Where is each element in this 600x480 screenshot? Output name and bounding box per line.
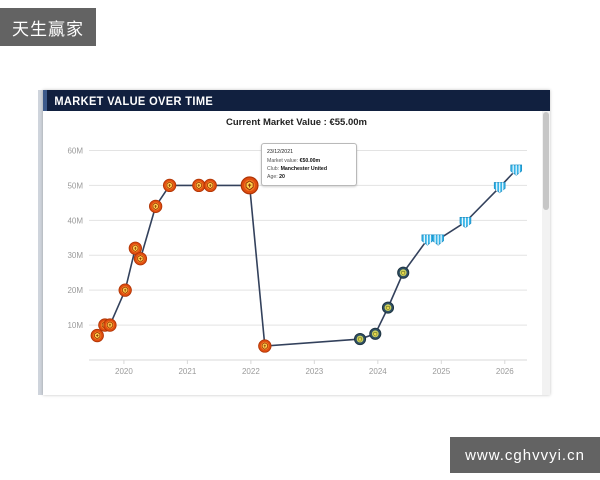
- data-point-marker[interactable]: [259, 340, 271, 352]
- data-point-marker[interactable]: [119, 284, 131, 296]
- data-point-marker[interactable]: [204, 179, 216, 191]
- data-point-marker[interactable]: [370, 328, 381, 339]
- data-point-marker[interactable]: [460, 217, 471, 227]
- x-axis-tick-label: 2024: [369, 367, 387, 376]
- y-axis-tick-label: 40M: [67, 216, 83, 225]
- card-header-title: MARKET VALUE OVER TIME: [47, 94, 213, 108]
- data-point-marker[interactable]: [104, 319, 116, 331]
- tooltip-club-name: Manchester United: [281, 166, 327, 172]
- y-axis-tick-label: 20M: [67, 286, 83, 295]
- y-axis-tick-label: 50M: [67, 181, 83, 190]
- tooltip-age-value: 20: [279, 174, 285, 180]
- data-point-marker[interactable]: [354, 333, 365, 344]
- data-point-marker[interactable]: [149, 200, 161, 212]
- data-point-marker[interactable]: [382, 302, 393, 313]
- x-axis-tick-label: 2022: [242, 367, 260, 376]
- watermark-bottom-right: www.cghvvyi.cn: [450, 437, 600, 473]
- tooltip-age: Age: 20: [267, 173, 351, 181]
- card-header: MARKET VALUE OVER TIME: [43, 90, 550, 111]
- y-axis-tick-label: 60M: [67, 146, 83, 155]
- x-axis-tick-label: 2025: [432, 367, 450, 376]
- data-point-marker[interactable]: [163, 179, 175, 191]
- tooltip-club-label: Club:: [267, 166, 279, 172]
- tooltip-club: Club: Manchester United: [267, 165, 351, 173]
- watermark-top-left: 天生赢家: [0, 8, 96, 46]
- x-axis-tick-label: 2021: [178, 367, 196, 376]
- market-value-card: MARKET VALUE OVER TIME Current Market Va…: [43, 90, 550, 395]
- y-axis-tick-label: 30M: [67, 251, 83, 260]
- data-point-marker[interactable]: [91, 329, 103, 341]
- tooltip-market-value: Market value: €50.00m: [267, 157, 351, 165]
- chart-title: Current Market Value : €55.00m: [43, 117, 550, 128]
- y-axis-tick-label: 10M: [67, 321, 83, 330]
- tooltip-market-value-amount: €50.00m: [300, 158, 320, 164]
- data-point-marker[interactable]: [398, 267, 409, 278]
- data-point-marker[interactable]: [134, 253, 146, 265]
- data-point-marker[interactable]: [241, 177, 258, 194]
- x-axis-tick-label: 2023: [305, 367, 323, 376]
- data-point-marker[interactable]: [433, 235, 444, 245]
- x-axis-tick-label: 2026: [496, 367, 514, 376]
- market-value-series-line: [97, 170, 516, 346]
- tooltip-market-value-label: Market value:: [267, 158, 298, 164]
- x-axis-tick-label: 2020: [115, 367, 133, 376]
- data-point-marker[interactable]: [193, 179, 205, 191]
- tooltip-date: 23/12/2021: [267, 148, 351, 156]
- chart-tooltip: 23/12/2021 Market value: €50.00m Club: M…: [261, 143, 357, 186]
- tooltip-age-label: Age:: [267, 174, 278, 180]
